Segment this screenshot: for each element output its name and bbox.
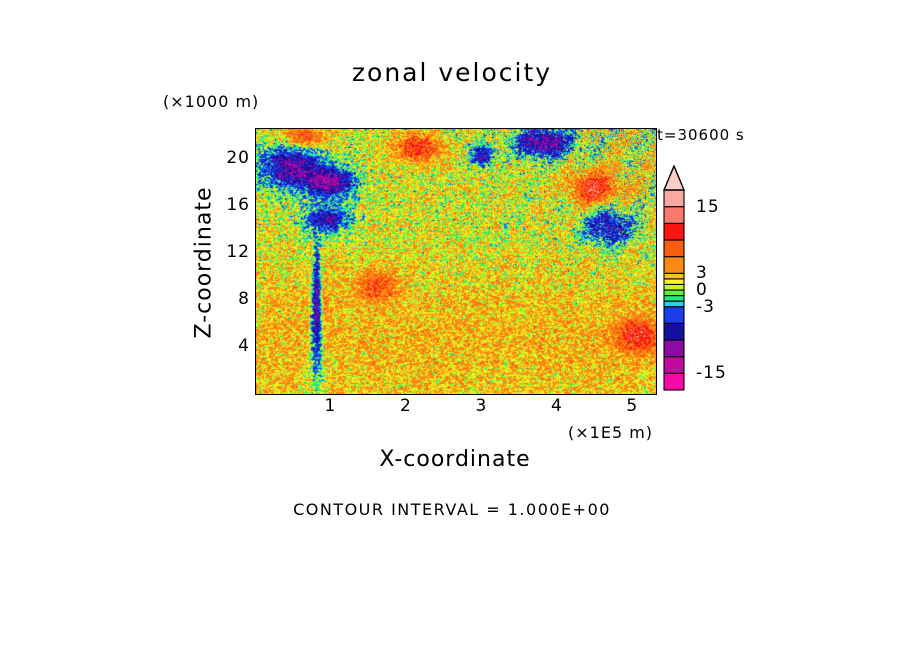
colorbar-segment bbox=[664, 290, 684, 296]
colorbar-segment bbox=[664, 307, 684, 324]
contour-plot-area bbox=[255, 128, 657, 395]
colorbar-segment bbox=[664, 207, 684, 224]
x-tick-label: 2 bbox=[400, 396, 412, 416]
contour-interval-caption: CONTOUR INTERVAL = 1.000E+00 bbox=[0, 500, 904, 519]
colorbar bbox=[661, 165, 687, 391]
x-axis-units: (×1E5 m) bbox=[568, 423, 653, 442]
colorbar-segment bbox=[664, 240, 684, 257]
page-title: zonal velocity bbox=[0, 58, 904, 87]
colorbar-segment bbox=[664, 223, 684, 240]
x-tick-label: 1 bbox=[325, 396, 337, 416]
x-tick-label: 5 bbox=[626, 396, 638, 416]
colorbar-segment bbox=[664, 301, 684, 307]
x-tick-label: 4 bbox=[551, 396, 563, 416]
colorbar-tick-label: 15 bbox=[696, 197, 720, 217]
colorbar-segment bbox=[664, 340, 684, 357]
colorbar-segment bbox=[664, 279, 684, 285]
velocity-field-heatmap bbox=[256, 129, 656, 394]
colorbar-tick-label: -15 bbox=[696, 363, 727, 383]
colorbar-segment bbox=[664, 190, 684, 207]
colorbar-segment bbox=[664, 273, 684, 279]
colorbar-tick-label: -3 bbox=[696, 297, 715, 317]
timestamp-label: t=30600 s bbox=[657, 126, 745, 144]
colorbar-segment bbox=[664, 257, 684, 274]
colorbar-svg bbox=[661, 165, 687, 391]
y-tick-label: 16 bbox=[226, 195, 250, 215]
y-tick-label: 12 bbox=[226, 242, 250, 262]
colorbar-segment bbox=[664, 357, 684, 374]
colorbar-arrow-tip bbox=[664, 166, 684, 190]
colorbar-segment bbox=[664, 284, 684, 290]
y-axis-label-text: Z-coordinate bbox=[192, 153, 217, 373]
y-axis-ticks: 48121620 bbox=[215, 128, 250, 393]
x-tick-label: 3 bbox=[475, 396, 487, 416]
colorbar-segment bbox=[664, 373, 684, 390]
x-axis-label: X-coordinate bbox=[255, 447, 655, 472]
y-tick-label: 4 bbox=[238, 336, 250, 356]
colorbar-segment bbox=[664, 323, 684, 340]
y-tick-label: 8 bbox=[238, 289, 250, 309]
colorbar-segment bbox=[664, 296, 684, 302]
y-tick-label: 20 bbox=[226, 148, 250, 168]
y-axis-units: (×1000 m) bbox=[163, 92, 259, 111]
x-axis-ticks: 12345 bbox=[255, 396, 655, 420]
